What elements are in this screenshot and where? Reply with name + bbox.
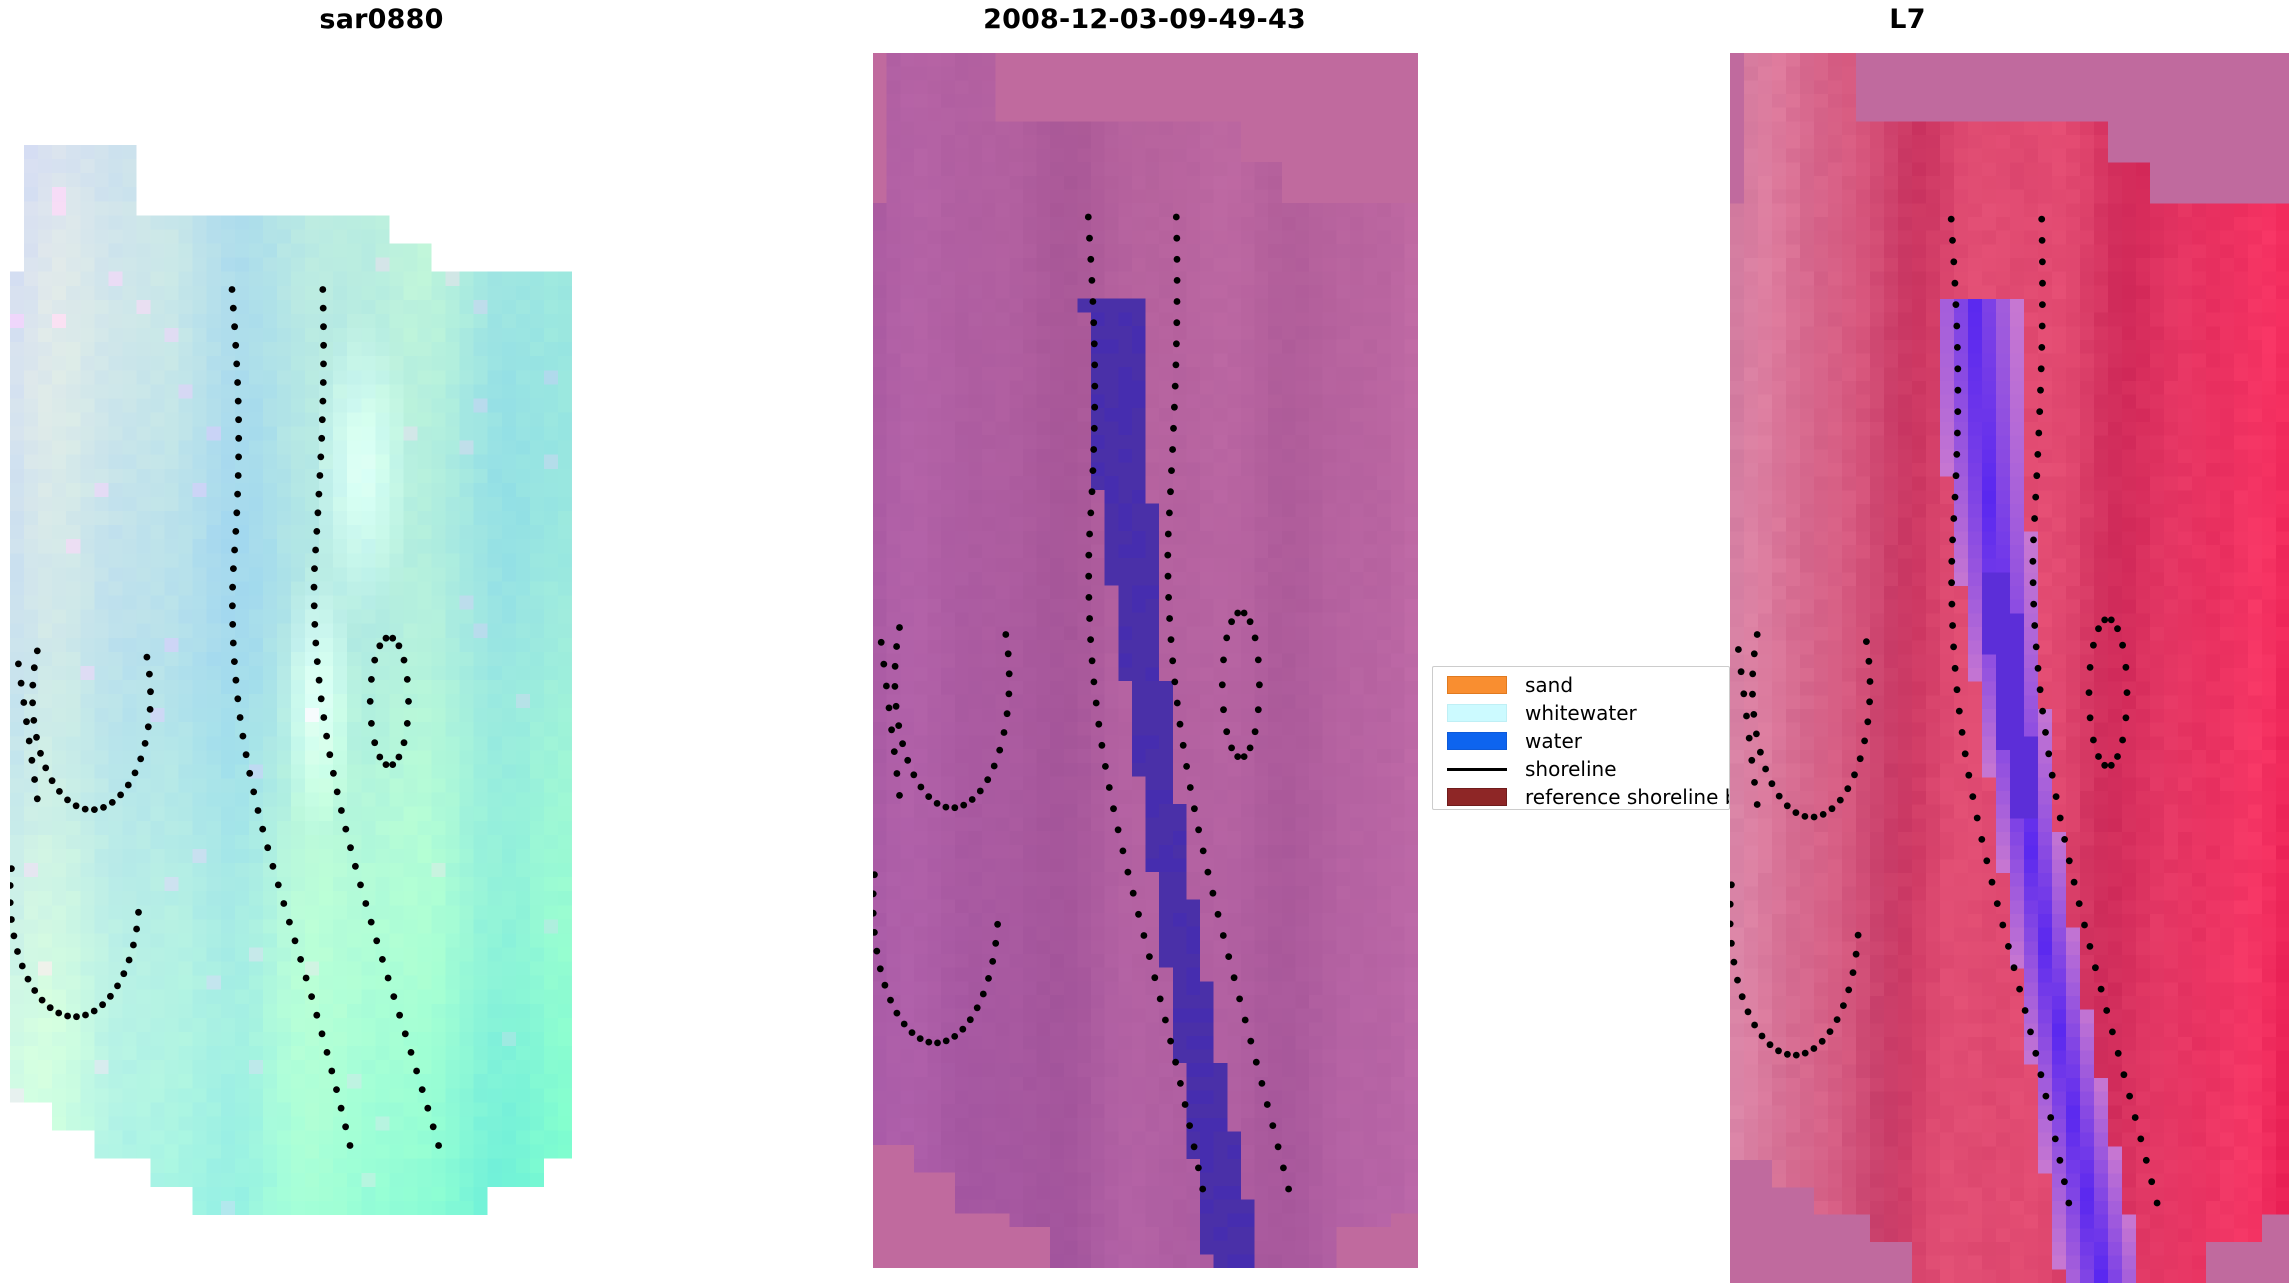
shoreline-line-icon	[1445, 759, 1509, 779]
legend-item-water: water	[1433, 727, 1730, 755]
legend-item-reference-shoreline-buffer: reference shoreline buffer	[1433, 783, 1730, 810]
legend-items: sand whitewater water shoreline referenc…	[1433, 671, 1730, 810]
panel-3-raster	[1730, 53, 2289, 1283]
panel-2-title: 2008-12-03-09-49-43	[763, 2, 1526, 38]
legend-box: sand whitewater water shoreline referenc…	[1432, 666, 1730, 810]
panel-1-title: sar0880	[0, 2, 763, 38]
legend-item-whitewater: whitewater	[1433, 699, 1730, 727]
figure-canvas: sar0880 2008-12-03-09-49-43 L7 sa	[0, 0, 2289, 1283]
panel-2-raster	[873, 53, 1418, 1268]
whitewater-swatch	[1445, 703, 1509, 723]
panel-sar0880: sar0880	[0, 0, 763, 1283]
panel-2008-12-03-09-49-43: 2008-12-03-09-49-43	[763, 0, 1526, 1283]
panel-3-title: L7	[1526, 2, 2289, 38]
legend-item-shoreline: shoreline	[1433, 755, 1730, 783]
legend-label-whitewater: whitewater	[1525, 701, 1637, 725]
panel-3-axes	[1730, 53, 2289, 1283]
sand-swatch	[1445, 675, 1509, 695]
legend-label-shoreline: shoreline	[1525, 757, 1617, 781]
legend-label-water: water	[1525, 729, 1582, 753]
legend-item-sand: sand	[1433, 671, 1730, 699]
panel-2-axes	[873, 53, 1418, 1268]
panel-l7: L7	[1526, 0, 2289, 1283]
water-swatch	[1445, 731, 1509, 751]
legend-label-sand: sand	[1525, 673, 1573, 697]
panel-1-axes	[10, 145, 572, 1215]
panel-1-raster	[10, 145, 572, 1215]
legend-label-reference-shoreline-buffer: reference shoreline buffer	[1525, 785, 1730, 809]
reference-shoreline-buffer-swatch	[1445, 787, 1509, 807]
